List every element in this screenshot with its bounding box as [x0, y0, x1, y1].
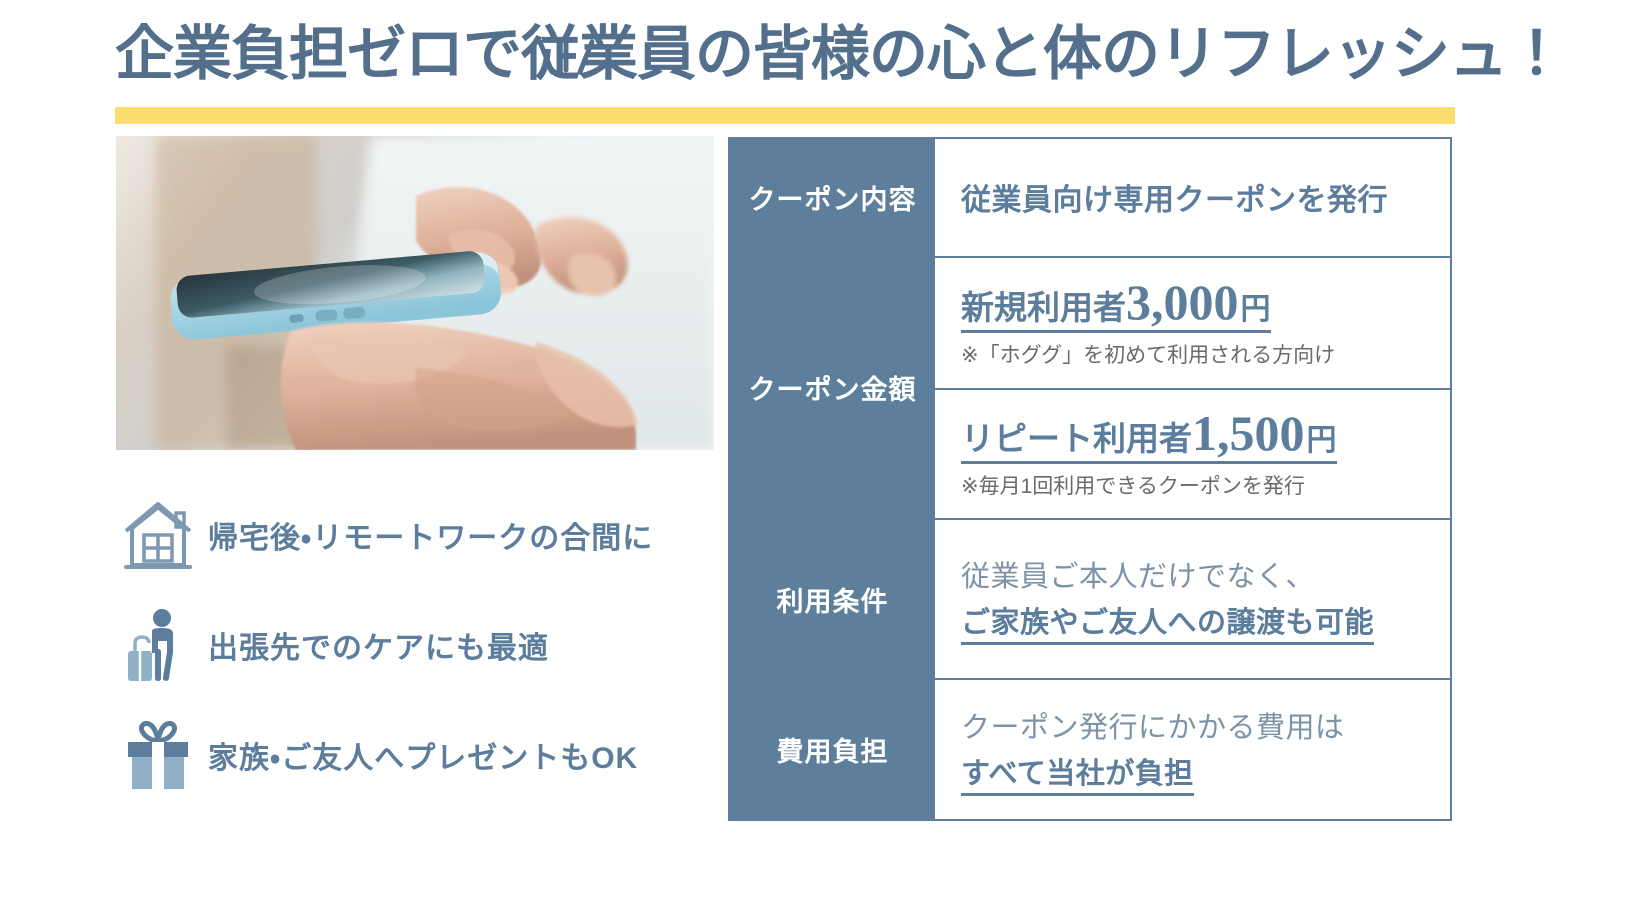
traveler-with-suitcase-icon	[118, 605, 198, 685]
amount-new-user-unit: 円	[1241, 284, 1271, 328]
row-header-usage-conditions: 利用条件	[730, 520, 935, 678]
house-icon	[118, 495, 198, 575]
amount-repeat-user-number: 1,500	[1192, 408, 1305, 458]
row-value-usage-conditions: 従業員ご本人だけでなく、 ご家族やご友人への譲渡も可能	[935, 520, 1450, 678]
amount-repeat-user: リピート利用者 1,500 円 ※毎月1回利用できるクーポンを発行	[935, 388, 1450, 518]
gift-box-icon	[118, 715, 198, 795]
amount-new-user-number: 3,000	[1126, 277, 1239, 327]
list-item-label: 家族・ご友人へプレゼントもOK	[208, 733, 638, 777]
row-value-coupon-content: 従業員向け専用クーポンを発行	[935, 139, 1450, 256]
cost-burden-line1: クーポン発行にかかる費用は	[961, 704, 1450, 746]
table-row: 利用条件 従業員ご本人だけでなく、 ご家族やご友人への譲渡も可能	[730, 518, 1450, 678]
row-header-cost-burden: 費用負担	[730, 680, 935, 819]
row-value-coupon-amount: 新規利用者 3,000 円 ※「ホググ」を初めて利用される方向け リピート利用者…	[935, 258, 1450, 518]
list-item: 出張先でのケアにも最適	[118, 590, 718, 700]
amount-repeat-user-note: ※毎月1回利用できるクーポンを発行	[961, 470, 1450, 500]
page-title-text: 企業負担ゼロで従業員の皆様の心と体のリフレッシュ！	[115, 24, 1460, 86]
row-header-coupon-amount: クーポン金額	[730, 258, 935, 518]
row-value-cost-burden: クーポン発行にかかる費用は すべて当社が負担	[935, 680, 1450, 819]
amount-repeat-user-who: リピート利用者	[961, 412, 1192, 460]
usage-conditions-line1: 従業員ご本人だけでなく、	[961, 553, 1450, 595]
list-item: 家族・ご友人へプレゼントもOK	[118, 700, 718, 810]
cost-burden-line2: すべて当社が負担	[961, 750, 1194, 796]
usage-conditions-line2: ご家族やご友人への譲渡も可能	[961, 599, 1374, 645]
coupon-content-text: 従業員向け専用クーポンを発行	[961, 175, 1450, 219]
table-row: 費用負担 クーポン発行にかかる費用は すべて当社が負担	[730, 678, 1450, 819]
hero-photo	[116, 136, 714, 450]
usage-conditions-text: 従業員ご本人だけでなく、 ご家族やご友人への譲渡も可能	[961, 553, 1450, 645]
row-header-coupon-content: クーポン内容	[730, 139, 935, 256]
cost-burden-text: クーポン発行にかかる費用は すべて当社が負担	[961, 704, 1450, 796]
hero-photo-image	[116, 136, 714, 450]
page-title: 企業負担ゼロで従業員の皆様の心と体のリフレッシュ！	[115, 18, 1460, 128]
amount-new-user-who: 新規利用者	[961, 281, 1126, 329]
amount-new-user-note: ※「ホググ」を初めて利用される方向け	[961, 339, 1450, 369]
coupon-details-table: クーポン内容 従業員向け専用クーポンを発行 クーポン金額 新規利用者 3,000…	[728, 137, 1452, 821]
amount-repeat-user-unit: 円	[1307, 415, 1337, 459]
amount-new-user: 新規利用者 3,000 円 ※「ホググ」を初めて利用される方向け	[935, 258, 1450, 388]
table-row: クーポン金額 新規利用者 3,000 円 ※「ホググ」を初めて利用される方向け …	[730, 256, 1450, 518]
title-underline-highlight	[115, 107, 1455, 124]
list-item: 帰宅後・リモートワークの合間に	[118, 480, 718, 590]
list-item-label: 帰宅後・リモートワークの合間に	[208, 513, 653, 557]
feature-list: 帰宅後・リモートワークの合間に 出張先でのケアにも最適	[118, 480, 718, 810]
amount-repeat-user-line: リピート利用者 1,500 円	[961, 408, 1337, 464]
amount-new-user-line: 新規利用者 3,000 円	[961, 277, 1271, 333]
list-item-label: 出張先でのケアにも最適	[208, 623, 549, 667]
table-row: クーポン内容 従業員向け専用クーポンを発行	[730, 139, 1450, 256]
